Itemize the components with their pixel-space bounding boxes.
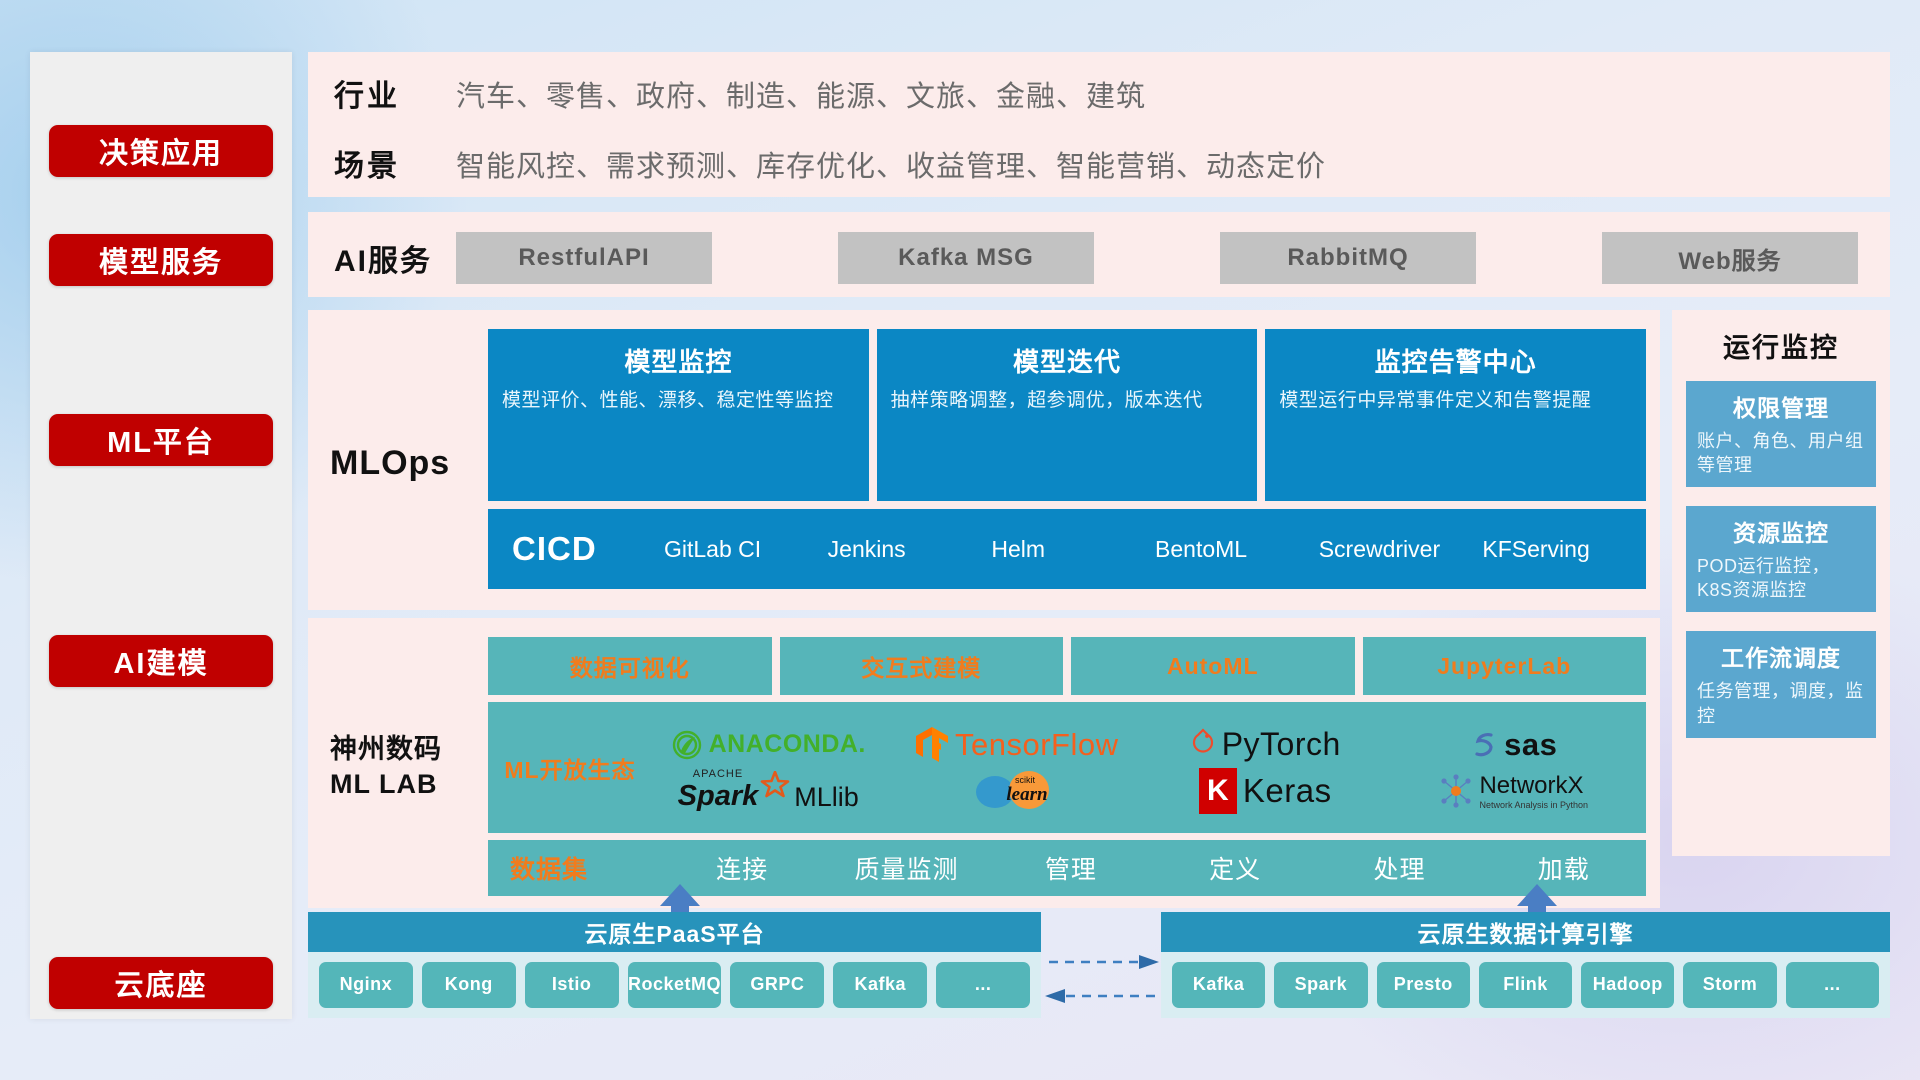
card-title: 权限管理 [1697, 389, 1865, 423]
paas-chip-grpc[interactable]: GRPC [730, 962, 824, 1008]
compute-chip-storm[interactable]: Storm [1683, 962, 1776, 1008]
spark-apache-label: APACHE [693, 768, 743, 780]
pytorch-logo: PyTorch [1190, 726, 1341, 763]
service-chip-rabbitmq[interactable]: RabbitMQ [1220, 232, 1476, 284]
paas-platform-panel: 云原生PaaS平台 Nginx Kong Istio RocketMQ GRPC… [308, 912, 1041, 1018]
dataset-item-manage[interactable]: 管理 [989, 850, 1153, 886]
dataset-item-connect[interactable]: 连接 [660, 850, 824, 886]
anaconda-icon [671, 729, 703, 761]
tool-chip-interactive-modeling[interactable]: 交互式建模 [780, 637, 1064, 695]
keras-wordmark: Keras [1243, 772, 1332, 810]
scenario-row: 场景 智能风控、需求预测、库存优化、收益管理、智能营销、动态定价 [334, 141, 1890, 185]
sas-logo: sas [1470, 727, 1557, 763]
card-title: 模型迭代 [891, 342, 1244, 379]
compute-title: 云原生数据计算引擎 [1161, 912, 1890, 952]
spark-star-icon [760, 771, 790, 801]
card-desc: 任务管理，调度，监控 [1697, 679, 1865, 727]
card-desc: 模型评价、性能、漂移、稳定性等监控 [502, 388, 855, 414]
stage-pill-cloud-base[interactable]: 云底座 [49, 957, 273, 1009]
networkx-logo: NetworkX Network Analysis in Python [1439, 772, 1588, 810]
paas-chip-istio[interactable]: Istio [525, 962, 619, 1008]
scikit-learn-logo: scikit learn [969, 768, 1065, 814]
cicd-item-kfserving[interactable]: KFServing [1482, 536, 1646, 562]
dataset-item-quality[interactable]: 质量监测 [824, 850, 988, 886]
anaconda-wordmark: ANACONDA. [709, 730, 866, 759]
cicd-bar: CICD GitLab CI Jenkins Helm BentoML Scre… [488, 509, 1646, 589]
card-title: 工作流调度 [1697, 639, 1865, 673]
spark-wordmark: Spark [678, 780, 759, 813]
paas-chip-kong[interactable]: Kong [422, 962, 516, 1008]
stage-pill-ml-platform[interactable]: ML平台 [49, 414, 273, 466]
industry-values: 汽车、零售、政府、制造、能源、文旅、金融、建筑 [456, 73, 1146, 115]
monitor-panel-title: 运行监控 [1686, 326, 1876, 365]
tool-chip-automl[interactable]: AutoML [1071, 637, 1355, 695]
pytorch-wordmark: PyTorch [1222, 726, 1341, 763]
scikit-learn-icon: scikit learn [969, 768, 1065, 814]
networkx-icon [1439, 774, 1473, 808]
paas-chip-rocketmq[interactable]: RocketMQ [628, 962, 722, 1008]
mlops-card-alert-center[interactable]: 监控告警中心 模型运行中异常事件定义和告警提醒 [1265, 329, 1646, 501]
tensorflow-wordmark: TensorFlow [955, 727, 1119, 763]
card-desc: 账户、角色、用户组等管理 [1697, 429, 1865, 477]
stage-pill-decision[interactable]: 决策应用 [49, 125, 273, 177]
cicd-item-screwdriver[interactable]: Screwdriver [1319, 536, 1483, 562]
cicd-item-gitlab[interactable]: GitLab CI [664, 536, 828, 562]
cloud-base-section: 云原生PaaS平台 Nginx Kong Istio RocketMQ GRPC… [308, 884, 1890, 1019]
mllib-wordmark: MLlib [794, 782, 859, 813]
anaconda-logo: ANACONDA. [671, 729, 866, 761]
card-desc: 模型运行中异常事件定义和告警提醒 [1279, 388, 1632, 414]
paas-chip-kafka[interactable]: Kafka [833, 962, 927, 1008]
scenario-label: 场景 [334, 141, 456, 185]
ai-service-label: AI服务 [334, 236, 456, 280]
card-title: 资源监控 [1697, 514, 1865, 548]
tool-chip-data-visualization[interactable]: 数据可视化 [488, 637, 772, 695]
stage-pill-model-service[interactable]: 模型服务 [49, 234, 273, 286]
networkx-tagline: Network Analysis in Python [1479, 800, 1588, 810]
stage-sidebar: 决策应用 模型服务 ML平台 AI建模 云底座 [30, 52, 292, 1019]
paas-chip-nginx[interactable]: Nginx [319, 962, 413, 1008]
sas-icon [1470, 729, 1498, 761]
keras-logo: K Keras [1199, 768, 1332, 814]
service-chip-kafka-msg[interactable]: Kafka MSG [838, 232, 1094, 284]
mlops-band: MLOps 模型监控 模型评价、性能、漂移、稳定性等监控 模型迭代 抽样策略调整… [308, 310, 1660, 610]
monitor-card-permission[interactable]: 权限管理 账户、角色、用户组等管理 [1686, 381, 1876, 487]
compute-chip-hadoop[interactable]: Hadoop [1581, 962, 1674, 1008]
compute-chip-presto[interactable]: Presto [1377, 962, 1470, 1008]
monitor-card-workflow[interactable]: 工作流调度 任务管理，调度，监控 [1686, 631, 1876, 737]
compute-chip-flink[interactable]: Flink [1479, 962, 1572, 1008]
card-desc: 抽样策略调整，超参调优，版本迭代 [891, 388, 1244, 414]
stage-pill-ai-modeling[interactable]: AI建模 [49, 635, 273, 687]
ml-ecosystem-row: ML开放生态 ANACONDA. [488, 702, 1646, 833]
ai-modeling-band: 神州数码 ML LAB 数据可视化 交互式建模 AutoML JupyterLa… [308, 618, 1660, 908]
sas-wordmark: sas [1504, 727, 1557, 763]
mlops-label: MLOps [330, 444, 488, 483]
runtime-monitor-panel: 运行监控 权限管理 账户、角色、用户组等管理 资源监控 POD运行监控，K8S资… [1672, 310, 1890, 856]
compute-chip-more[interactable]: ... [1786, 962, 1879, 1008]
compute-chip-kafka[interactable]: Kafka [1172, 962, 1265, 1008]
application-layer-band: 行业 汽车、零售、政府、制造、能源、文旅、金融、建筑 场景 智能风控、需求预测、… [308, 52, 1890, 197]
bidirectional-connector-icon [1043, 950, 1161, 1006]
dataset-item-define[interactable]: 定义 [1153, 850, 1317, 886]
ai-service-band: AI服务 RestfulAPI Kafka MSG RabbitMQ Web服务 [308, 212, 1890, 297]
compute-chip-spark[interactable]: Spark [1274, 962, 1367, 1008]
cicd-item-helm[interactable]: Helm [991, 536, 1155, 562]
svg-text:learn: learn [1006, 784, 1047, 805]
industry-row: 行业 汽车、零售、政府、制造、能源、文旅、金融、建筑 [334, 71, 1890, 115]
card-title: 模型监控 [502, 342, 855, 379]
ml-lab-line1: 神州数码 [330, 732, 488, 767]
ml-lab-label: 神州数码 ML LAB [330, 732, 488, 801]
ml-ecosystem-label: ML开放生态 [494, 751, 646, 785]
pytorch-icon [1190, 728, 1216, 762]
cicd-title: CICD [512, 530, 664, 568]
networkx-wordmark: NetworkX [1479, 772, 1588, 800]
dataset-title: 数据集 [510, 850, 660, 886]
tool-chip-jupyterlab[interactable]: JupyterLab [1363, 637, 1647, 695]
mlops-card-model-iteration[interactable]: 模型迭代 抽样策略调整，超参调优，版本迭代 [877, 329, 1258, 501]
paas-title: 云原生PaaS平台 [308, 912, 1041, 952]
card-desc: POD运行监控，K8S资源监控 [1697, 554, 1865, 602]
cicd-item-jenkins[interactable]: Jenkins [828, 536, 992, 562]
dataset-item-load[interactable]: 加载 [1482, 850, 1646, 886]
tensorflow-logo: TensorFlow [915, 726, 1119, 764]
spark-mllib-logo: APACHE Spark MLlib [678, 768, 859, 813]
service-chip-web[interactable]: Web服务 [1602, 232, 1858, 284]
industry-label: 行业 [334, 71, 456, 115]
paas-chip-more[interactable]: ... [936, 962, 1030, 1008]
ml-lab-line2: ML LAB [330, 767, 488, 802]
scenario-values: 智能风控、需求预测、库存优化、收益管理、智能营销、动态定价 [456, 143, 1326, 185]
service-chip-restful[interactable]: RestfulAPI [456, 232, 712, 284]
monitor-card-resource[interactable]: 资源监控 POD运行监控，K8S资源监控 [1686, 506, 1876, 612]
keras-mark-icon: K [1199, 768, 1237, 814]
mlops-card-model-monitoring[interactable]: 模型监控 模型评价、性能、漂移、稳定性等监控 [488, 329, 869, 501]
compute-engine-panel: 云原生数据计算引擎 Kafka Spark Presto Flink Hadoo… [1161, 912, 1890, 1018]
tensorflow-icon [915, 726, 949, 764]
cicd-item-bentoml[interactable]: BentoML [1155, 536, 1319, 562]
dataset-item-process[interactable]: 处理 [1317, 850, 1481, 886]
card-title: 监控告警中心 [1279, 342, 1632, 379]
